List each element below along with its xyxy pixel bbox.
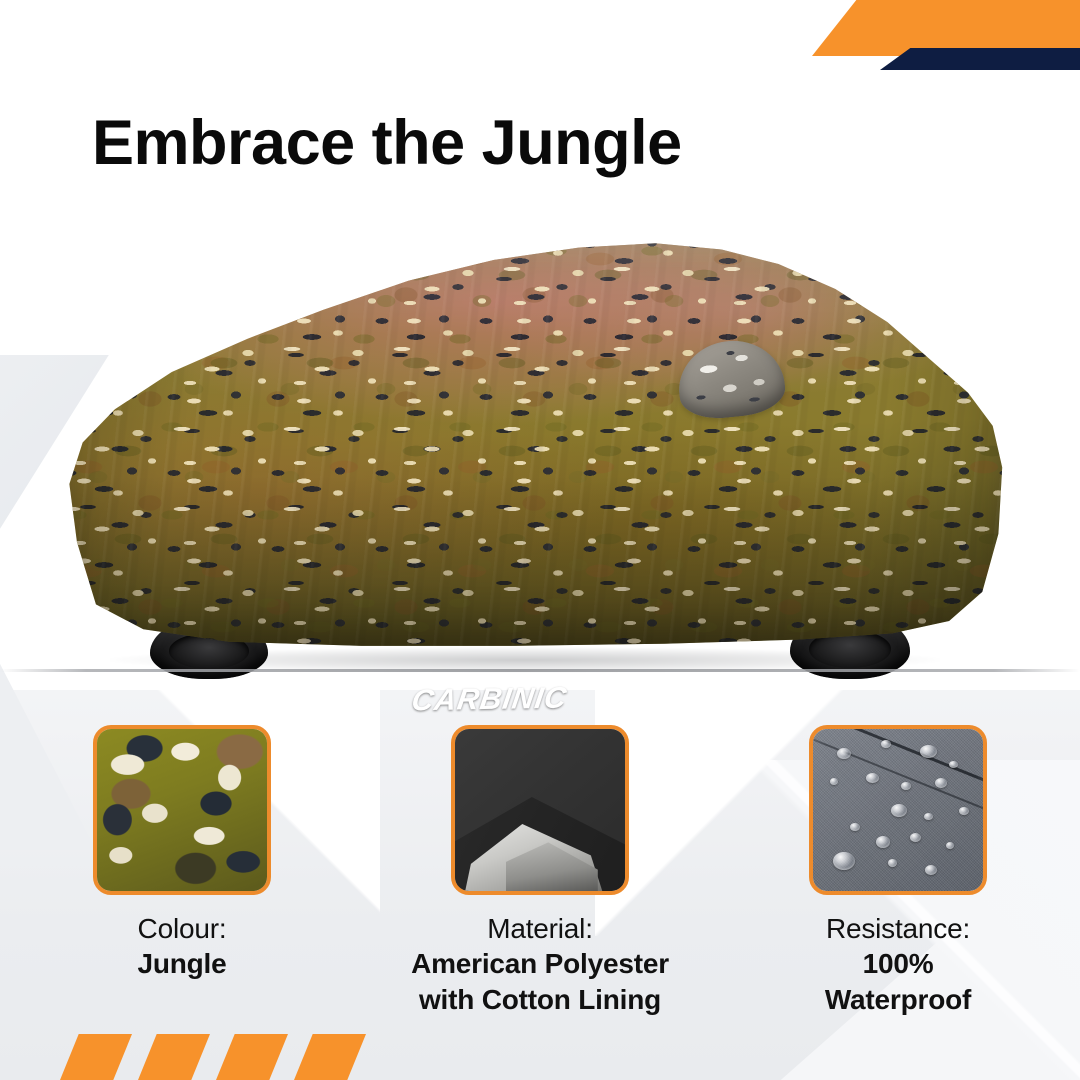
- waterproof-swatch-image: [813, 729, 983, 891]
- top-right-orange-shape: [812, 0, 1080, 56]
- resistance-value-line2: Waterproof: [825, 982, 971, 1017]
- stripe-1: [60, 1034, 132, 1080]
- water-droplet: [881, 740, 891, 748]
- material-value-line1: American Polyester: [411, 946, 669, 981]
- stripe-3: [216, 1034, 288, 1080]
- cover-edge-shading: [58, 235, 1006, 650]
- colour-swatch: [93, 725, 271, 895]
- water-droplet: [866, 773, 879, 783]
- bottom-left-stripes: [60, 1034, 360, 1080]
- water-droplet: [959, 807, 969, 815]
- page-title: Embrace the Jungle: [92, 112, 682, 175]
- water-droplet: [833, 852, 855, 870]
- water-droplet: [837, 748, 851, 759]
- resistance-label: Resistance:: [825, 911, 971, 946]
- colour-caption: Colour: Jungle: [137, 911, 226, 982]
- hero-product-image: CARBINIC: [0, 215, 1080, 685]
- stripe-4: [294, 1034, 366, 1080]
- colour-value: Jungle: [137, 946, 226, 981]
- resistance-caption: Resistance: 100% Waterproof: [825, 911, 971, 1017]
- top-right-navy-shape: [880, 48, 1080, 70]
- water-droplet: [925, 865, 937, 875]
- cover-base: [58, 235, 1006, 650]
- material-swatch: [451, 725, 629, 895]
- water-droplet: [935, 778, 947, 788]
- material-caption: Material: American Polyester with Cotton…: [411, 911, 669, 1017]
- material-label: Material:: [411, 911, 669, 946]
- resistance-value-line1: 100%: [825, 946, 971, 981]
- colour-label: Colour:: [137, 911, 226, 946]
- car-cover: [58, 235, 1006, 650]
- water-droplet: [920, 745, 937, 758]
- water-droplet: [946, 842, 954, 849]
- feature-list: Colour: Jungle Material: American Polyes…: [0, 725, 1080, 1017]
- product-poster: Embrace the Jungle CARBINIC: [0, 0, 1080, 1080]
- water-droplet: [891, 804, 907, 817]
- stripe-2: [138, 1034, 210, 1080]
- water-droplet: [876, 836, 890, 848]
- water-droplet: [888, 859, 897, 867]
- fabric-swatch-image: [455, 729, 625, 891]
- feature-material: Material: American Polyester with Cotton…: [390, 725, 690, 1017]
- feature-colour: Colour: Jungle: [32, 725, 332, 1017]
- resistance-swatch: [809, 725, 987, 895]
- water-droplet: [830, 778, 838, 785]
- water-droplet: [910, 833, 921, 842]
- brand-logo: CARBINIC: [409, 682, 569, 719]
- water-droplet: [924, 813, 933, 820]
- water-droplet: [850, 823, 860, 831]
- water-droplet: [901, 782, 911, 790]
- material-value-line2: with Cotton Lining: [411, 982, 669, 1017]
- camo-swatch-image: [97, 729, 267, 891]
- ground-line: [0, 669, 1080, 672]
- feature-resistance: Resistance: 100% Waterproof: [748, 725, 1048, 1017]
